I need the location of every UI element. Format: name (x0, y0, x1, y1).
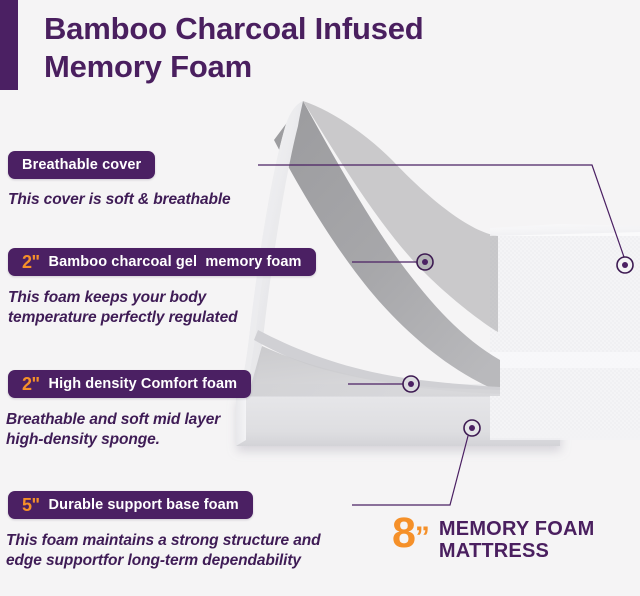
comfort-foam-marker (403, 376, 419, 392)
callout-desc-line-0-0: This cover is soft & breathable (8, 190, 358, 210)
callout-desc-line-2-0: Breathable and soft mid layer (6, 410, 356, 430)
infographic-canvas: Bamboo Charcoal Infused Memory Foam Brea… (0, 0, 640, 591)
gel-foam-marker (417, 254, 433, 270)
callout-label-bamboo-charcoal-gel-memory-foam[interactable]: 2" Bamboo charcoal gel memory foam (8, 248, 316, 276)
callout-description-breathable-cover: This cover is soft & breathable (8, 190, 358, 210)
callout-desc-line-3-0: This foam maintains a strong structure a… (6, 531, 366, 551)
callout-label-text-3: Durable support base foam (49, 497, 239, 513)
callout-desc-line-1-0: This foam keeps your body (8, 288, 358, 308)
callout-desc-line-1-1: temperature perfectly regulated (8, 308, 358, 328)
cover-marker (617, 257, 633, 273)
size-unit-symbol: ” (415, 521, 429, 554)
callout-thickness-2: 2" (22, 374, 40, 395)
title-accent-bar (0, 0, 18, 90)
connector-base-foam (352, 436, 468, 505)
callout-description-durable-support-base-foam: This foam maintains a strong structure a… (6, 531, 366, 571)
mattress-size-label: 8” MEMORY FOAM MATTRESS (392, 515, 594, 563)
page-title-line1: Bamboo Charcoal Infused (44, 10, 514, 48)
callout-desc-line-3-1: edge supportfor long-term dependability (6, 551, 366, 571)
size-text-line2: MATTRESS (439, 540, 595, 562)
callout-description-high-density-comfort-foam: Breathable and soft mid layer high-densi… (6, 410, 356, 450)
callout-thickness-3: 5" (22, 495, 40, 516)
base-foam-marker (464, 420, 480, 436)
size-text-line1: MEMORY FOAM (439, 518, 595, 540)
page-title-line2: Memory Foam (44, 48, 514, 86)
mattress-size-number: 8” (392, 515, 429, 553)
callout-thickness-1: 2" (22, 252, 40, 273)
callout-label-high-density-comfort-foam[interactable]: 2" High density Comfort foam (8, 370, 251, 398)
callout-label-text-1: Bamboo charcoal gel memory foam (49, 254, 302, 270)
size-number-value: 8 (392, 509, 415, 557)
callout-label-text-0: Breathable cover (22, 157, 141, 173)
callout-description-bamboo-charcoal-gel-memory-foam: This foam keeps your body temperature pe… (8, 288, 358, 328)
callout-label-text-2: High density Comfort foam (49, 376, 238, 392)
callout-label-durable-support-base-foam[interactable]: 5" Durable support base foam (8, 491, 253, 519)
mattress-size-text: MEMORY FOAM MATTRESS (439, 518, 595, 563)
callout-desc-line-2-1: high-density sponge. (6, 430, 356, 450)
page-title: Bamboo Charcoal Infused Memory Foam (44, 10, 514, 86)
callout-label-breathable-cover[interactable]: Breathable cover (8, 151, 155, 179)
